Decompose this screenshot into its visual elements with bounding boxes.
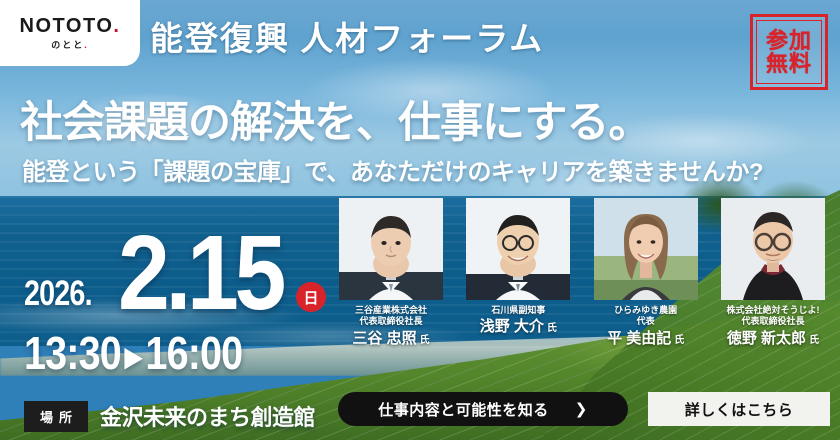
event-date-row: 2026. 2.15 日 (24, 226, 324, 318)
speaker-name-suffix: 氏 (674, 335, 684, 346)
logo-kana-text: のとと (51, 40, 84, 50)
forum-title: 能登復興 人材フォーラム (150, 12, 544, 60)
event-time-start: 13:30 (24, 327, 121, 379)
event-day: 2.15 (118, 220, 282, 326)
speaker-org-line1: 三谷産業株式会社 (355, 305, 427, 316)
speaker-portrait (466, 198, 570, 300)
speaker-portrait (594, 198, 698, 300)
speaker-org-line2: 代表 (614, 316, 677, 327)
venue-name: 金沢未来のまち創造館 (100, 400, 315, 432)
speaker-name: 浅野 大介氏 (480, 319, 557, 334)
speaker-org-line1: ひらみゆき農園 (614, 305, 677, 316)
speaker-name-text: 徳野 新太郎 (727, 330, 806, 347)
speaker-name-text: 平 美由記 (607, 330, 671, 347)
free-badge-line2: 無料 (766, 52, 812, 75)
free-badge-line1: 参加 (766, 29, 812, 52)
cta-secondary-label: 詳しくはこちら (685, 399, 794, 420)
speaker-name-suffix: 氏 (809, 335, 819, 346)
event-time: 13:30▶16:00 (24, 330, 242, 376)
logo-wordmark: NOTOTO. (20, 16, 121, 36)
cta-primary-label: 仕事内容と可能性を知る (378, 399, 549, 420)
speaker-card: 石川県副知事 浅野 大介氏 (459, 198, 577, 380)
speaker-org: ひらみゆき農園 代表 (614, 305, 677, 328)
speaker-name-text: 三谷 忠照 (352, 330, 416, 347)
speaker-org: 三谷産業株式会社 代表取締役社長 (355, 305, 427, 328)
event-day-of-week-badge: 日 (296, 282, 326, 312)
free-admission-badge: 参加 無料 (750, 14, 828, 90)
logo-kana: のとと. (51, 41, 89, 50)
time-arrow-icon: ▶ (124, 341, 142, 372)
sub-headline: 能登という「課題の宝庫」で、あなただけのキャリアを築きませんか? (22, 152, 763, 187)
speaker-card: 三谷産業株式会社 代表取締役社長 三谷 忠照氏 (332, 198, 450, 380)
speaker-name-text: 浅野 大介 (480, 318, 544, 335)
speaker-org-line2: 代表取締役社長 (726, 316, 819, 327)
speaker-card: ひらみゆき農園 代表 平 美由記氏 (587, 198, 705, 380)
speaker-name: 徳野 新太郎氏 (727, 331, 819, 346)
speaker-portrait (339, 198, 443, 300)
nototo-logo[interactable]: NOTOTO. のとと. (0, 0, 140, 66)
logo-wordmark-text: NOTOTO (20, 15, 114, 37)
speaker-list: 三谷産業株式会社 代表取締役社長 三谷 忠照氏 (332, 198, 832, 380)
logo-wordmark-dot: . (113, 15, 120, 37)
chevron-right-icon: ❯ (575, 400, 588, 418)
speaker-org-line1: 石川県副知事 (491, 305, 545, 316)
event-year: 2026. (24, 274, 92, 314)
speaker-name: 平 美由記氏 (607, 331, 684, 346)
speaker-portrait (721, 198, 825, 300)
speaker-org: 株式会社絶対そうじよ! 代表取締役社長 (726, 305, 819, 328)
speaker-name: 三谷 忠照氏 (352, 331, 429, 346)
event-time-end: 16:00 (145, 327, 242, 379)
cta-secondary-button[interactable]: 詳しくはこちら (648, 392, 830, 426)
event-banner: NOTOTO. のとと. 能登復興 人材フォーラム 参加 無料 社会課題の解決を… (0, 0, 840, 440)
speaker-name-suffix: 氏 (547, 323, 557, 334)
main-headline: 社会課題の解決を、仕事にする。 (20, 88, 650, 150)
speaker-org: 石川県副知事 (491, 305, 545, 316)
event-date-block: 2026. 2.15 日 (24, 226, 324, 326)
event-venue: 場所 金沢未来のまち創造館 (24, 400, 315, 432)
speaker-card: 株式会社絶対そうじよ! 代表取締役社長 徳野 新太郎氏 (714, 198, 832, 380)
logo-kana-dot: . (84, 40, 89, 50)
venue-label-tag: 場所 (24, 401, 88, 432)
speaker-org-line1: 株式会社絶対そうじよ! (726, 305, 819, 316)
speaker-org-line2: 代表取締役社長 (355, 316, 427, 327)
speaker-name-suffix: 氏 (420, 335, 430, 346)
free-admission-badge-inner: 参加 無料 (756, 20, 822, 84)
cta-primary-button[interactable]: 仕事内容と可能性を知る ❯ (338, 392, 628, 426)
